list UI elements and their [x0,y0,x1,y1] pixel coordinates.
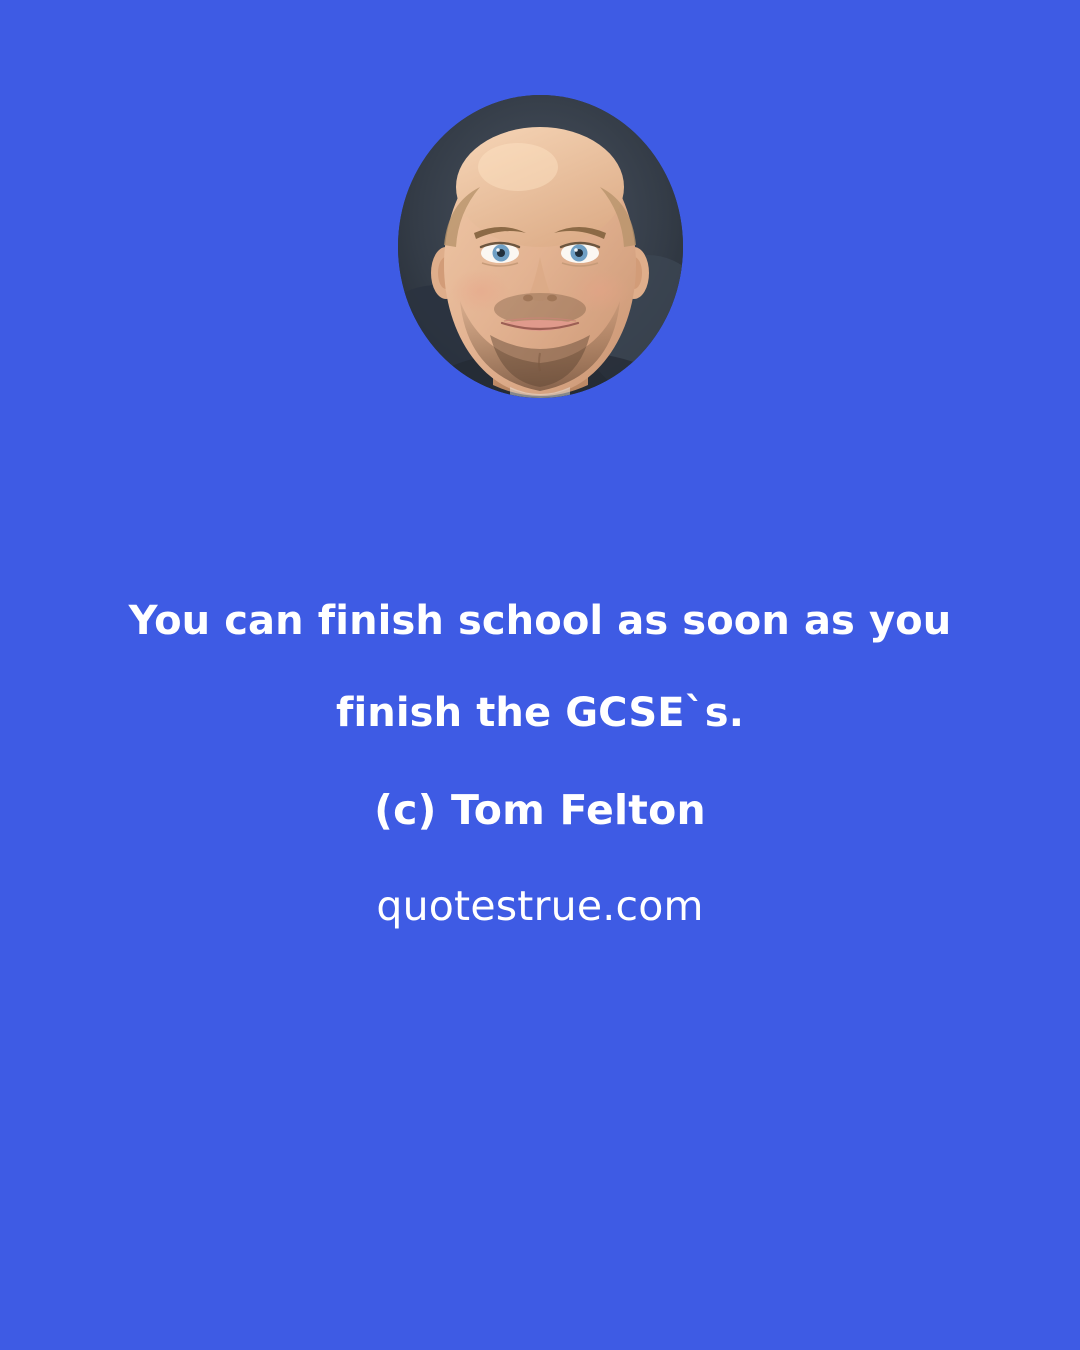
quote-line-1: You can finish school as soon as you [0,575,1080,667]
portrait-photo-icon [398,95,683,398]
portrait-wrapper [398,95,683,398]
author-portrait-avatar [398,95,683,398]
quote-block: You can finish school as soon as you fin… [0,575,1080,759]
attribution-block: (c) Tom Felton [0,784,1080,836]
source-website: quotestrue.com [0,880,1080,932]
quote-card: You can finish school as soon as you fin… [0,0,1080,1350]
quote-line-2: finish the GCSE`s. [0,667,1080,759]
quote-author: (c) Tom Felton [0,784,1080,836]
